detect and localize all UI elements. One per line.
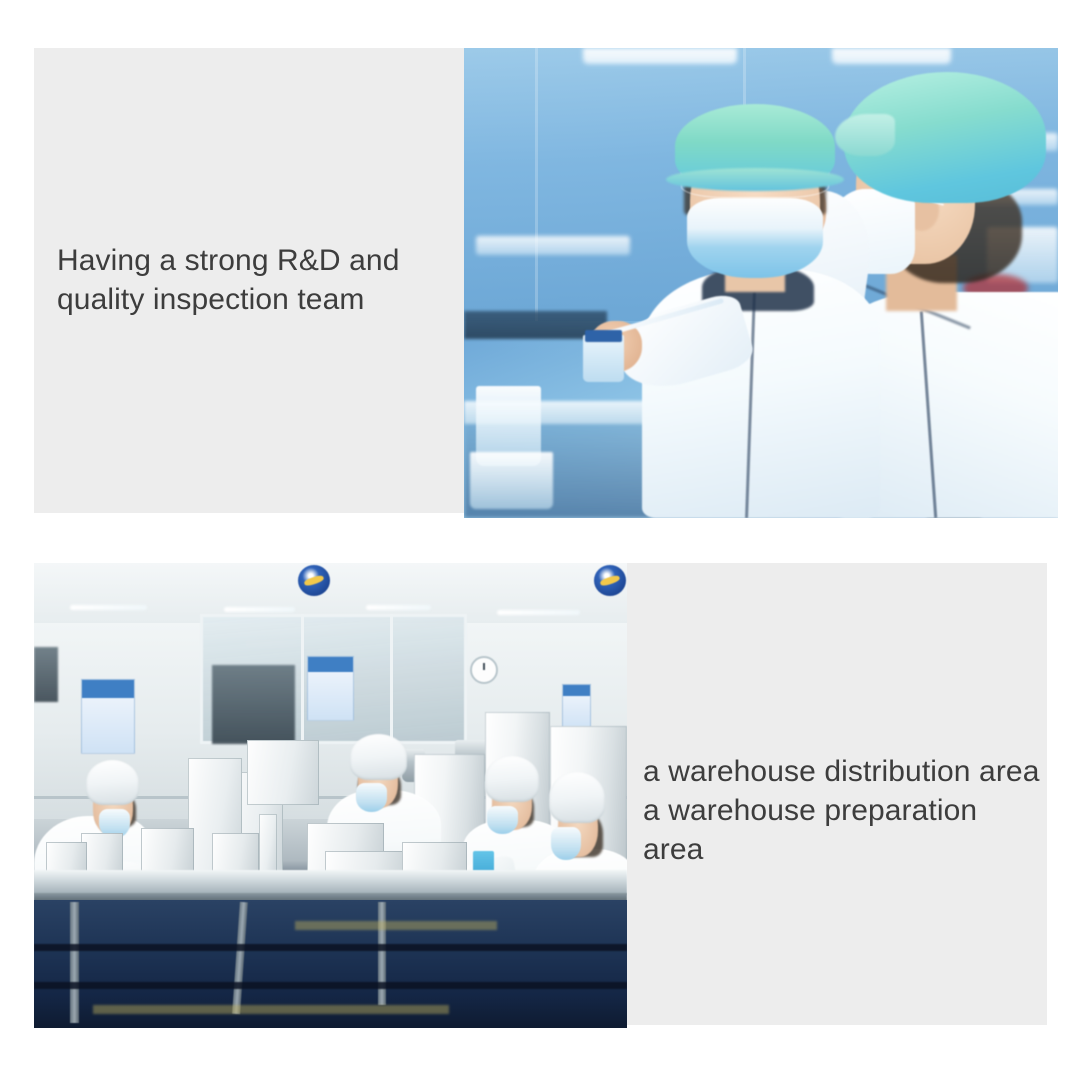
warehouse-table-top [34, 870, 627, 895]
lab-wall-seam [535, 48, 538, 321]
warehouse-ceiling-light [70, 605, 147, 610]
warehouse-notice-board [562, 684, 592, 731]
warehouse-doorway [34, 647, 58, 703]
warehouse-wall-clock [470, 656, 498, 684]
warehouse-floor-marking [93, 1005, 449, 1014]
page-root: Having a strong R&D and quality inspecti… [0, 0, 1080, 1080]
lab-glassware [470, 452, 553, 508]
rd-quality-caption: Having a strong R&D and quality inspecti… [57, 241, 457, 319]
rd-lab-photo [464, 48, 1058, 518]
warehouse-box [81, 833, 123, 875]
warehouse-ceiling-light [224, 607, 295, 612]
warehouse-worker-1-hairnet [86, 760, 138, 805]
warehouse-window-mullion [301, 614, 304, 744]
warehouse-box [212, 833, 259, 875]
warehouse-ceiling-light [497, 610, 580, 615]
warehouse-worker-4-hairnet [549, 772, 605, 823]
warehouse-window-mullion [390, 614, 393, 744]
warehouse-floor-rail [34, 982, 627, 989]
warehouse-doorway [212, 665, 295, 744]
warehouse-worker-2-face-mask [356, 783, 387, 811]
warehouse-packing-photo [34, 563, 627, 1028]
warehouse-ceiling-light [366, 605, 431, 610]
warehouse-notice-board [307, 656, 354, 721]
lab-worker-right-hairnet-brim [835, 114, 894, 156]
warehouse-floor-rail [34, 944, 627, 951]
warehouse-table-leg [378, 902, 386, 1004]
warehouse-worker-4-face-mask [551, 827, 581, 859]
warehouse-caption: a warehouse distribution area a warehous… [643, 752, 1043, 869]
warehouse-notice-board [81, 679, 134, 753]
warehouse-box [141, 828, 194, 875]
warehouse-worker-3-face-mask [487, 806, 518, 834]
warehouse-carton [247, 740, 318, 805]
warehouse-worker-3-hairnet [485, 756, 540, 802]
lab-shelf [476, 236, 630, 255]
lab-worker-left-face-mask [687, 198, 824, 278]
warehouse-table-leg [70, 902, 79, 1023]
lab-ceiling-light [832, 48, 951, 64]
warehouse-floor-marking [295, 921, 497, 930]
lab-ceiling-light [583, 48, 737, 64]
lab-sample-vial-cap [585, 330, 622, 342]
warehouse-blue-sign [594, 565, 626, 596]
warehouse-worker-2-hairnet [350, 734, 407, 780]
warehouse-bottle [259, 814, 277, 874]
warehouse-blue-sign [298, 565, 330, 596]
